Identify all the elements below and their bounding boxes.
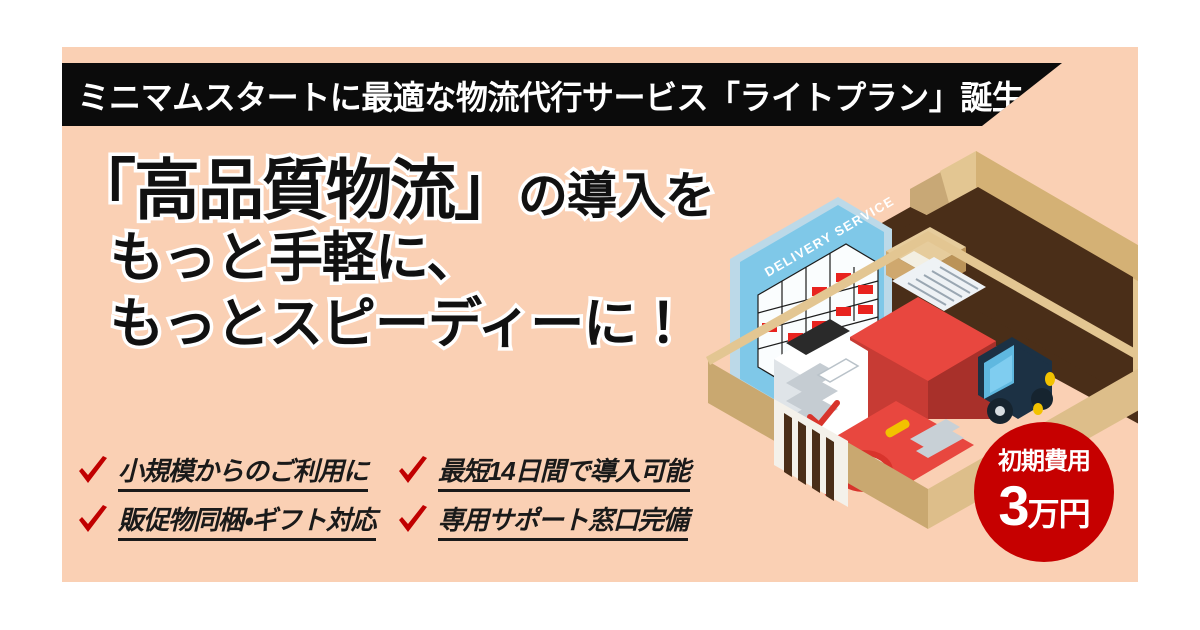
- promo-banner: ミニマムスタートに最適な物流代行サービス「ライトプラン」誕生！: [62, 47, 1138, 582]
- feature-label: 販促物同梱・ギフト対応: [118, 500, 376, 541]
- badge-amount: 3: [998, 478, 1027, 534]
- check-icon: [396, 456, 430, 488]
- headline-block: 「高品質物流」の導入を もっと手軽に、 もっとスピーディーに！: [70, 155, 770, 358]
- feature-item: 小規模からのご利用に: [76, 451, 376, 492]
- headline-line-2: もっと手軽に、: [70, 226, 770, 292]
- feature-label: 最短14日間で導入可能: [438, 451, 690, 492]
- feature-label: 専用サポート窓口完備: [438, 500, 688, 541]
- check-icon: [76, 456, 110, 488]
- price-badge: 初期費用 3 万円: [974, 422, 1114, 562]
- feature-item: 販促物同梱・ギフト対応: [76, 500, 376, 541]
- headline-line-1: 「高品質物流」の導入を: [70, 155, 770, 226]
- check-icon: [76, 505, 110, 537]
- feature-list: 小規模からのご利用に 最短14日間で導入可能 販促物同梱・ギフト対応 専用サポー…: [76, 451, 690, 541]
- headline-line-3: もっとスピーディーに！: [70, 292, 770, 358]
- badge-top-label: 初期費用: [998, 450, 1090, 474]
- check-icon: [396, 505, 430, 537]
- headline-quoted-phrase: 「高品質物流」: [70, 153, 518, 227]
- feature-label: 小規模からのご利用に: [118, 451, 368, 492]
- badge-amount-row: 3 万円: [998, 478, 1089, 534]
- feature-item: 専用サポート窓口完備: [396, 500, 690, 541]
- badge-unit: 万円: [1028, 498, 1090, 530]
- headline-line-1-suffix: の導入を: [518, 168, 714, 224]
- feature-item: 最短14日間で導入可能: [396, 451, 690, 492]
